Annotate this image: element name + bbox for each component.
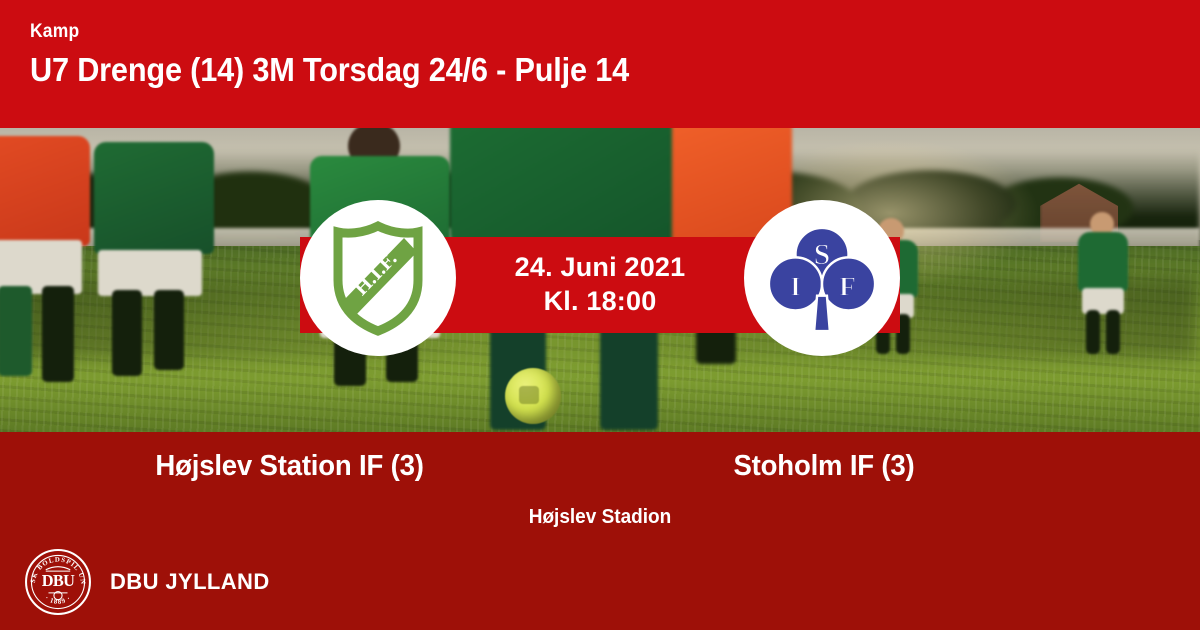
match-time: Kl. 18:00: [544, 285, 657, 319]
kamp-label: Kamp: [30, 22, 1106, 43]
page-title: U7 Drenge (14) 3M Torsdag 24/6 - Pulje 1…: [30, 52, 1118, 89]
player-far-right-green: [1070, 212, 1140, 362]
team-names-row: Højslev Station IF (3) Stoholm IF (3): [0, 450, 1200, 483]
match-date: 24. Juni 2021: [515, 251, 686, 285]
venue-name: Højslev Stadion: [30, 506, 1170, 529]
svg-text:· 1889 ·: · 1889 ·: [43, 595, 72, 606]
football: [505, 368, 561, 424]
home-team-name: Højslev Station IF (3): [15, 450, 585, 483]
dbu-crest-icon: DANSK BOLDSPIL UNION · 1889 · DBU: [24, 548, 92, 616]
footer: DANSK BOLDSPIL UNION · 1889 · DBU DBU JY…: [24, 548, 270, 616]
away-team-name: Stoholm IF (3): [615, 450, 1185, 483]
header-band: Kamp U7 Drenge (14) 3M Torsdag 24/6 - Pu…: [0, 0, 1200, 128]
dbu-org-label: DBU JYLLAND: [110, 569, 270, 595]
match-graphic-card: Kamp U7 Drenge (14) 3M Torsdag 24/6 - Pu…: [0, 0, 1200, 630]
player-green-one: [88, 128, 248, 378]
date-time-text: 24. Juni 2021 Kl. 18:00: [300, 237, 900, 333]
svg-text:DBU: DBU: [42, 571, 75, 590]
